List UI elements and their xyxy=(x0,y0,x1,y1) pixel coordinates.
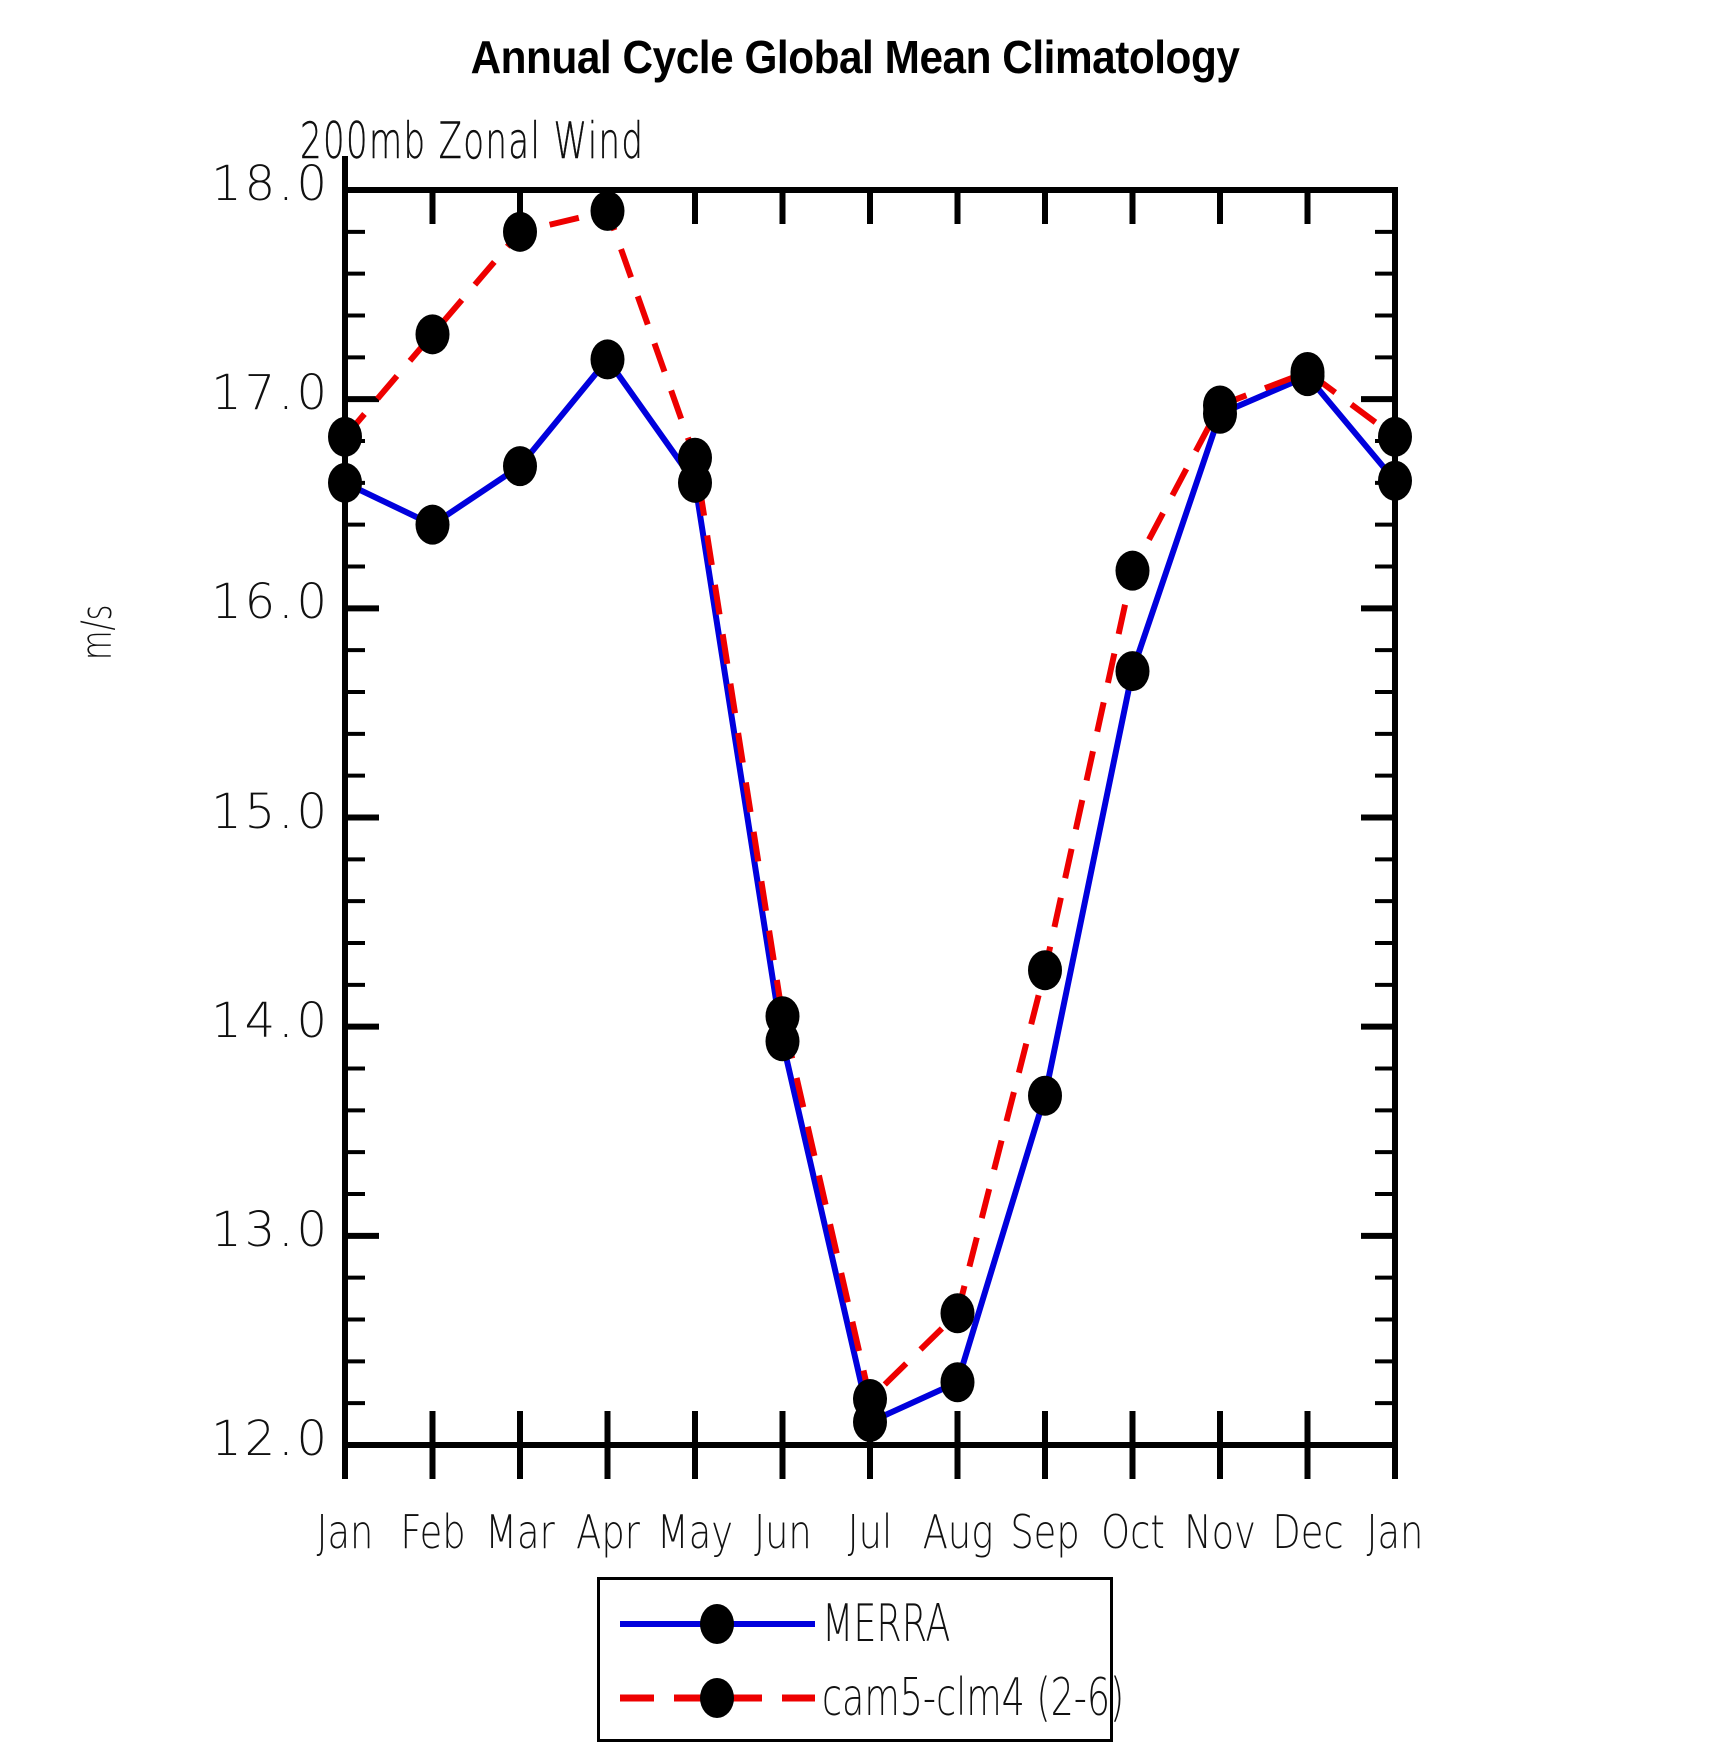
data-point-marker xyxy=(1291,352,1325,392)
data-point-marker xyxy=(766,996,800,1036)
data-point-marker xyxy=(941,1293,975,1333)
data-point-marker xyxy=(591,339,625,379)
data-point-marker xyxy=(328,417,362,457)
legend-line-sample-cam5 xyxy=(620,1678,815,1718)
data-point-marker xyxy=(1028,950,1062,990)
plot-area xyxy=(0,0,1710,1757)
data-point-marker xyxy=(941,1362,975,1402)
data-point-marker xyxy=(1378,461,1412,501)
data-point-marker xyxy=(678,438,712,478)
legend-line-sample-merra xyxy=(620,1604,815,1644)
legend: MERRA cam5-clm4 (2-6) xyxy=(597,1577,1113,1742)
legend-label-merra: MERRA xyxy=(822,1594,950,1654)
data-point-marker xyxy=(591,191,625,231)
chart-figure: Annual Cycle Global Mean Climatology 200… xyxy=(0,0,1710,1757)
data-point-marker xyxy=(328,463,362,503)
legend-entry-merra[interactable]: MERRA xyxy=(600,1588,1110,1660)
legend-entry-cam5[interactable]: cam5-clm4 (2-6) xyxy=(600,1662,1110,1734)
legend-label-cam5: cam5-clm4 (2-6) xyxy=(822,1668,1124,1728)
data-point-marker xyxy=(416,505,450,545)
series-line-merra xyxy=(345,359,1395,1422)
data-point-marker xyxy=(503,212,537,252)
data-point-marker xyxy=(1378,417,1412,457)
axes-frame xyxy=(345,190,1395,1445)
data-point-marker xyxy=(1116,651,1150,691)
data-point-marker xyxy=(503,446,537,486)
data-point-marker xyxy=(1203,385,1237,425)
axis-ticks xyxy=(345,156,1395,1479)
data-point-marker xyxy=(1116,551,1150,591)
data-point-marker xyxy=(416,314,450,354)
data-point-marker xyxy=(853,1379,887,1419)
data-series xyxy=(328,191,1412,1442)
data-point-marker xyxy=(1028,1076,1062,1116)
series-line-cam5-clm4-2-6- xyxy=(345,211,1395,1399)
